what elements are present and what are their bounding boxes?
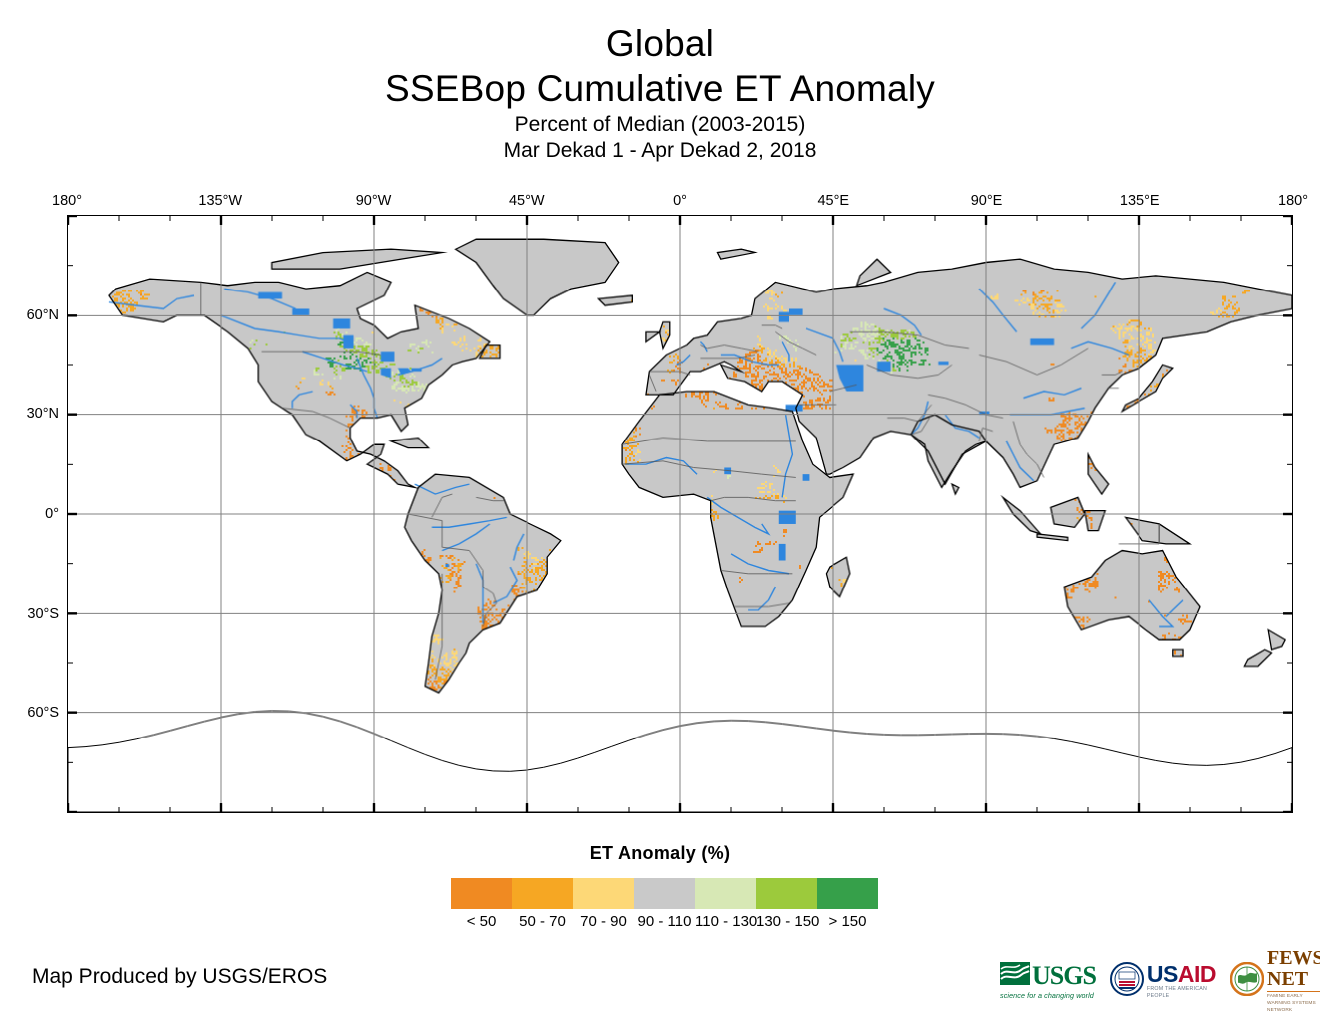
usaid-tagline: FROM THE AMERICAN PEOPLE (1147, 986, 1216, 1000)
legend-label: 110 - 130 (695, 912, 756, 934)
lat-tick-label: 60°N (27, 307, 59, 323)
lon-tick-label: 90°E (971, 193, 1003, 209)
legend-swatch (573, 878, 634, 909)
lon-tick-label: 45°E (817, 193, 849, 209)
title-block: Global SSEBop Cumulative ET Anomaly Perc… (0, 22, 1320, 164)
usaid-wordmark-us: US (1147, 961, 1178, 987)
legend-label: 90 - 110 (634, 912, 695, 934)
logo-row: USGS science for a changing world USAID … (1000, 958, 1320, 1004)
lat-tick-label: 0° (45, 506, 59, 522)
page-title-line-2: SSEBop Cumulative ET Anomaly (0, 66, 1320, 112)
legend-swatch (634, 878, 695, 909)
lon-tick-label: 135°W (198, 193, 242, 209)
et-anomaly-raster (68, 216, 1292, 812)
lon-tick-label: 90°W (356, 193, 392, 209)
page-title-line-1: Global (0, 22, 1320, 66)
legend-block: ET Anomaly (%) (0, 842, 1320, 864)
map-credit: Map Produced by USGS/EROS (32, 963, 327, 991)
legend-color-bar (451, 878, 878, 909)
legend-label: 50 - 70 (512, 912, 573, 934)
legend-title: ET Anomaly (%) (0, 842, 1320, 864)
usgs-tagline: science for a changing world (1000, 991, 1094, 1000)
fews-net-wordmark: FEWS NET (1267, 948, 1320, 992)
map-frame[interactable] (67, 215, 1293, 813)
legend-swatch (817, 878, 878, 909)
fews-globe-icon (1230, 962, 1264, 1001)
legend-swatch (695, 878, 756, 909)
usaid-wordmark-aid: AID (1178, 961, 1216, 987)
legend-label: > 150 (817, 912, 878, 934)
lon-tick-label: 45°W (509, 193, 545, 209)
lat-tick-label: 60°S (27, 705, 59, 721)
fews-net-logo: FEWS NET FAMINE EARLY WARNING SYSTEMS NE… (1230, 948, 1320, 1014)
lon-tick-label: 180° (1278, 193, 1308, 209)
usgs-wordmark: USGS (1032, 963, 1096, 989)
lon-tick-label: 180° (52, 193, 82, 209)
lat-tick-label: 30°N (27, 406, 59, 422)
page-subtitle-percent-of-median: Percent of Median (2003-2015) (0, 112, 1320, 138)
fews-net-tagline: FAMINE EARLY WARNING SYSTEMS NETWORK (1267, 993, 1320, 1014)
lat-tick-label: 30°S (27, 606, 59, 622)
map-area[interactable] (67, 215, 1293, 813)
legend-label: 70 - 90 (573, 912, 634, 934)
page-subtitle-date-range: Mar Dekad 1 - Apr Dekad 2, 2018 (0, 138, 1320, 164)
legend-label: < 50 (451, 912, 512, 934)
lon-tick-label: 135°E (1120, 193, 1160, 209)
lon-tick-label: 0° (673, 193, 687, 209)
usgs-logo: USGS science for a changing world (1000, 962, 1096, 1000)
usaid-seal-icon (1110, 962, 1144, 1001)
legend-label: 130 - 150 (756, 912, 817, 934)
usaid-logo: USAID FROM THE AMERICAN PEOPLE (1110, 962, 1216, 1001)
legend-class-labels: < 5050 - 7070 - 9090 - 110110 - 130130 -… (451, 912, 878, 934)
legend-swatch (512, 878, 573, 909)
legend-swatch (451, 878, 512, 909)
legend-swatch (756, 878, 817, 909)
usgs-wave-icon (1000, 962, 1030, 990)
map-raster-layer (68, 216, 1292, 812)
